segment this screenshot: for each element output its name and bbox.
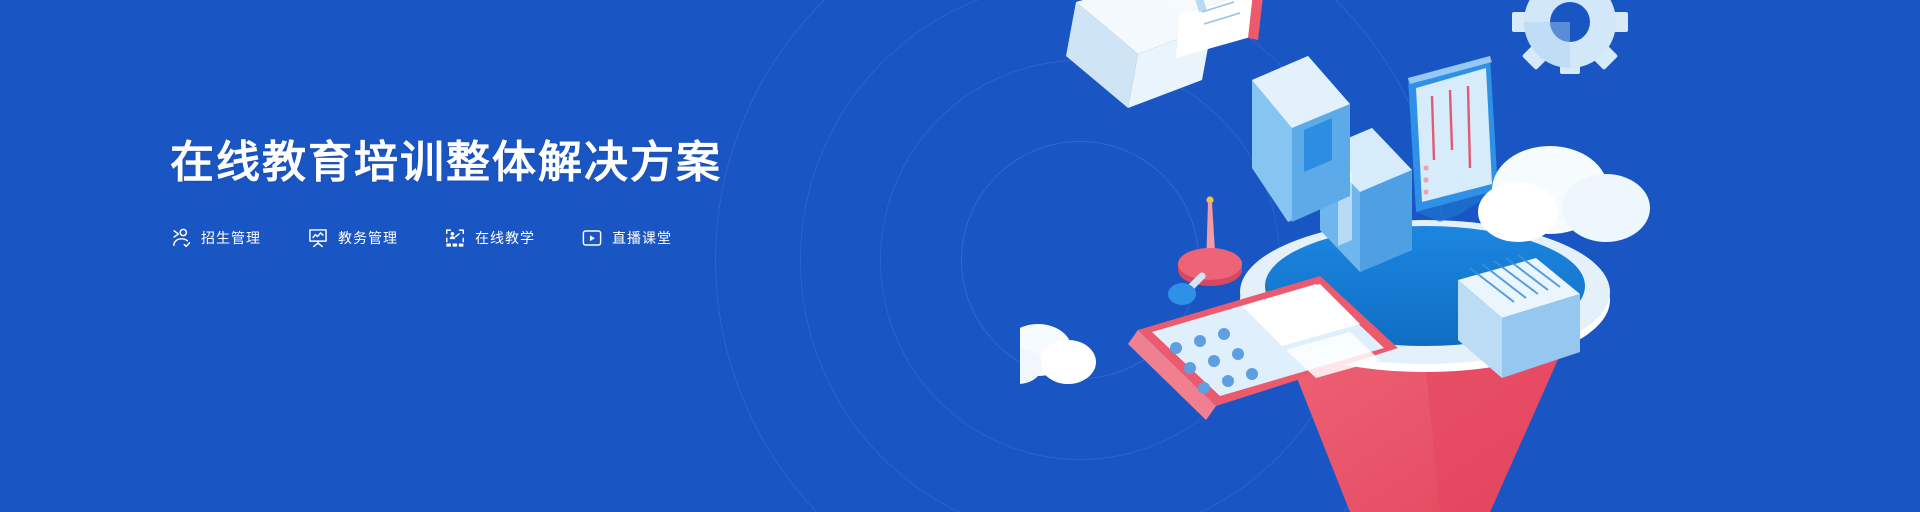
- feature-label-academic-affairs: 教务管理: [338, 228, 398, 248]
- feature-item-online-teaching[interactable]: 在线教学: [444, 227, 535, 249]
- stage-disc: [1240, 220, 1610, 512]
- feature-list: 招生管理 教务管理: [170, 227, 790, 249]
- page-title: 在线教育培训整体解决方案: [170, 138, 790, 189]
- student-enrollment-icon: [170, 227, 192, 249]
- ring-mid-outer: [800, 0, 1360, 512]
- concentric-rings-decoration: [700, 0, 1460, 512]
- cloud-small: [1020, 324, 1096, 384]
- ring-inner: [961, 141, 1199, 379]
- tablet-device: [1128, 276, 1398, 420]
- feature-item-live-class[interactable]: 直播课堂: [581, 227, 672, 249]
- cloud-large: [1478, 146, 1650, 242]
- letter-b-block: [1320, 128, 1412, 272]
- gear-wheel: [1512, 0, 1628, 74]
- ring-outer: [715, 0, 1445, 512]
- feature-label-live-class: 直播课堂: [612, 228, 672, 248]
- spinning-top: [1168, 196, 1242, 305]
- open-book: [1066, 0, 1264, 108]
- letter-a-block: [1252, 56, 1350, 222]
- online-education-illustration: [1020, 0, 1920, 512]
- feature-item-enrollment[interactable]: 招生管理: [170, 227, 261, 249]
- online-classroom-icon: [444, 227, 466, 249]
- banner-content: 在线教育培训整体解决方案 招生管理: [170, 138, 790, 249]
- monitor-screen-with-chart: [1408, 56, 1498, 222]
- feature-label-online-teaching: 在线教学: [475, 228, 535, 248]
- ring-mid-inner: [880, 60, 1280, 460]
- hero-banner: 在线教育培训整体解决方案 招生管理: [0, 0, 1920, 512]
- live-broadcast-play-icon: [581, 227, 603, 249]
- feature-label-enrollment: 招生管理: [201, 228, 261, 248]
- notebook-block: [1458, 255, 1580, 378]
- feature-item-academic-affairs[interactable]: 教务管理: [307, 227, 398, 249]
- academic-affairs-chart-icon: [307, 227, 329, 249]
